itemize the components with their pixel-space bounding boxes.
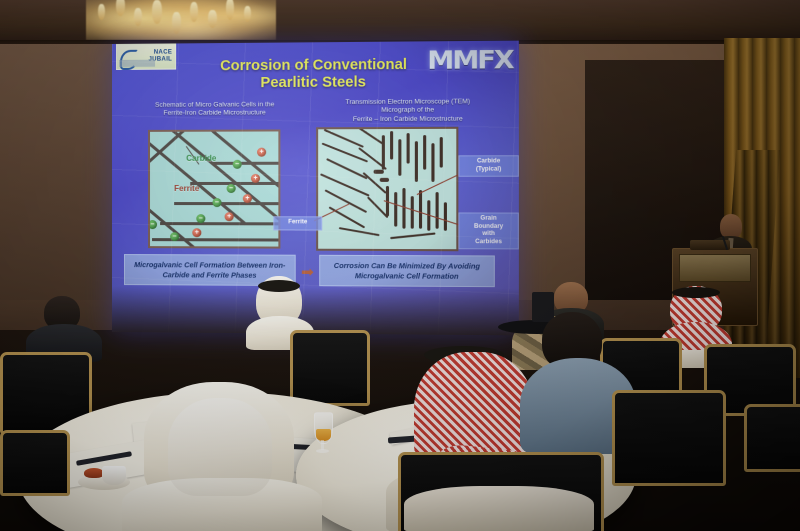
conference-photo: NACE JUBAIL MMFX Corrosion of Convention… (0, 0, 800, 531)
chair-foreground-left (0, 430, 70, 496)
ion-negative: – (233, 160, 242, 169)
schematic-label-carbide: Carbide (186, 154, 216, 163)
tag-grain-line4: Carbides (463, 239, 515, 247)
right-panel-caption: Transmission Electron Microscope (TEM) M… (310, 98, 506, 125)
tag-grain-line2: Boundary (463, 223, 515, 231)
conclusion-box-right: Corrosion Can Be Minimized By Avoiding M… (319, 255, 495, 287)
podium-emblem-plaque (679, 254, 751, 282)
tag-carbide-line1: Carbide (463, 158, 515, 166)
ion-positive: + (257, 148, 266, 157)
pastry (84, 468, 104, 478)
ion-negative: – (227, 184, 236, 193)
ion-negative: – (148, 220, 157, 229)
ion-negative: – (212, 198, 221, 207)
chandelier-icon (86, 0, 276, 40)
chair-foreground-right (612, 390, 726, 486)
left-panel-caption: Schematic of Micro Galvanic Cells in the… (124, 101, 306, 119)
foreground-attendee-ghutra (122, 382, 322, 531)
tag-ferrite: Ferrite (273, 216, 322, 230)
ion-positive: + (243, 194, 252, 203)
tag-grain-boundary: Grain Boundary with Carbides (458, 212, 518, 249)
foreground-attendee-robe (404, 486, 594, 531)
tag-carbide-line2: (Typical) (463, 166, 515, 174)
right-caption-line3: Ferrite – Iron Carbide Microstructure (310, 115, 506, 124)
slide-title: Corrosion of Conventional Pearlitic Stee… (112, 56, 519, 93)
tag-grain-line1: Grain (463, 216, 515, 224)
ion-positive: + (251, 174, 260, 183)
slide-title-line1: Corrosion of Conventional (182, 56, 446, 75)
left-caption-line2: Ferrite-Iron Carbide Microstructure (124, 110, 306, 119)
tag-carbide-typical: Carbide (Typical) (458, 155, 518, 177)
ion-negative: – (196, 214, 205, 223)
ion-negative: – (170, 232, 179, 241)
tem-micrograph-image (316, 127, 458, 251)
slide-title-line2: Pearlitic Steels (182, 74, 446, 93)
ion-positive: + (192, 228, 201, 237)
chair (744, 404, 800, 472)
attendee-dark-hair-left (26, 296, 102, 358)
tag-grain-line3: with (463, 231, 515, 239)
schematic-label-ferrite: Ferrite (174, 184, 199, 193)
ion-positive: + (225, 212, 234, 221)
microgalvanic-schematic-diagram: Carbide Ferrite + – + – + – + – + – – (148, 129, 280, 248)
